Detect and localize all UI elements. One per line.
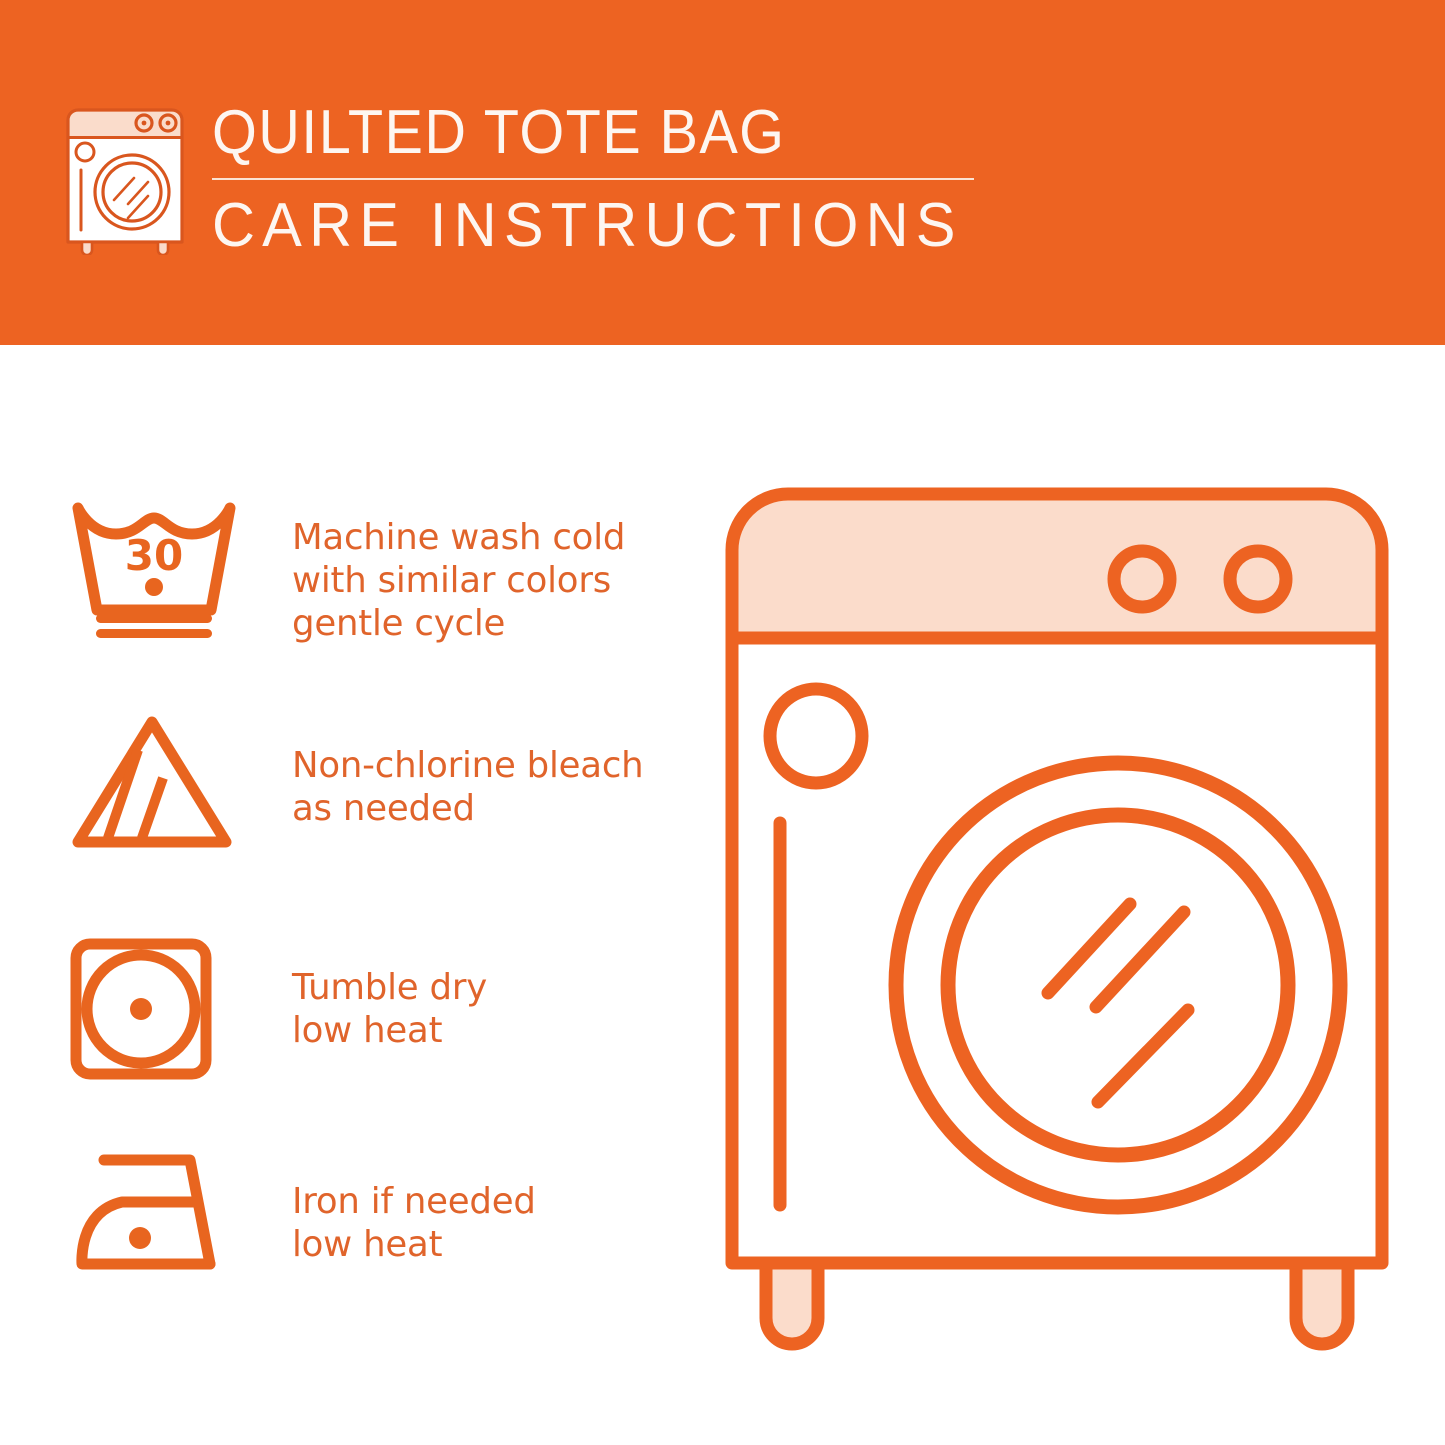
page-title: QUILTED TOTE BAG xyxy=(212,96,956,170)
care-item-wash-label: Machine wash cold with similar colors ge… xyxy=(292,516,625,645)
washing-machine-illustration xyxy=(718,480,1408,1380)
page-subtitle: CARE INSTRUCTIONS xyxy=(212,190,980,262)
header-band: QUILTED TOTE BAG CARE INSTRUCTIONS xyxy=(0,0,1445,345)
tumble-dry-icon xyxy=(70,938,212,1085)
care-instructions-page: QUILTED TOTE BAG CARE INSTRUCTIONS 30 Ma… xyxy=(0,0,1445,1445)
svg-text:30: 30 xyxy=(125,531,183,580)
care-item-bleach-label: Non-chlorine bleach as needed xyxy=(292,744,643,830)
header-divider xyxy=(212,178,974,180)
non-chlorine-bleach-triangle-icon xyxy=(70,712,235,857)
header-text-block: QUILTED TOTE BAG CARE INSTRUCTIONS xyxy=(212,96,1012,262)
machine-wash-basin-icon: 30 xyxy=(70,498,238,645)
washing-machine-icon xyxy=(62,100,188,255)
care-item-dry-label: Tumble dry low heat xyxy=(292,966,487,1052)
care-item-iron-label: Iron if needed low heat xyxy=(292,1180,536,1266)
iron-icon xyxy=(70,1148,230,1281)
